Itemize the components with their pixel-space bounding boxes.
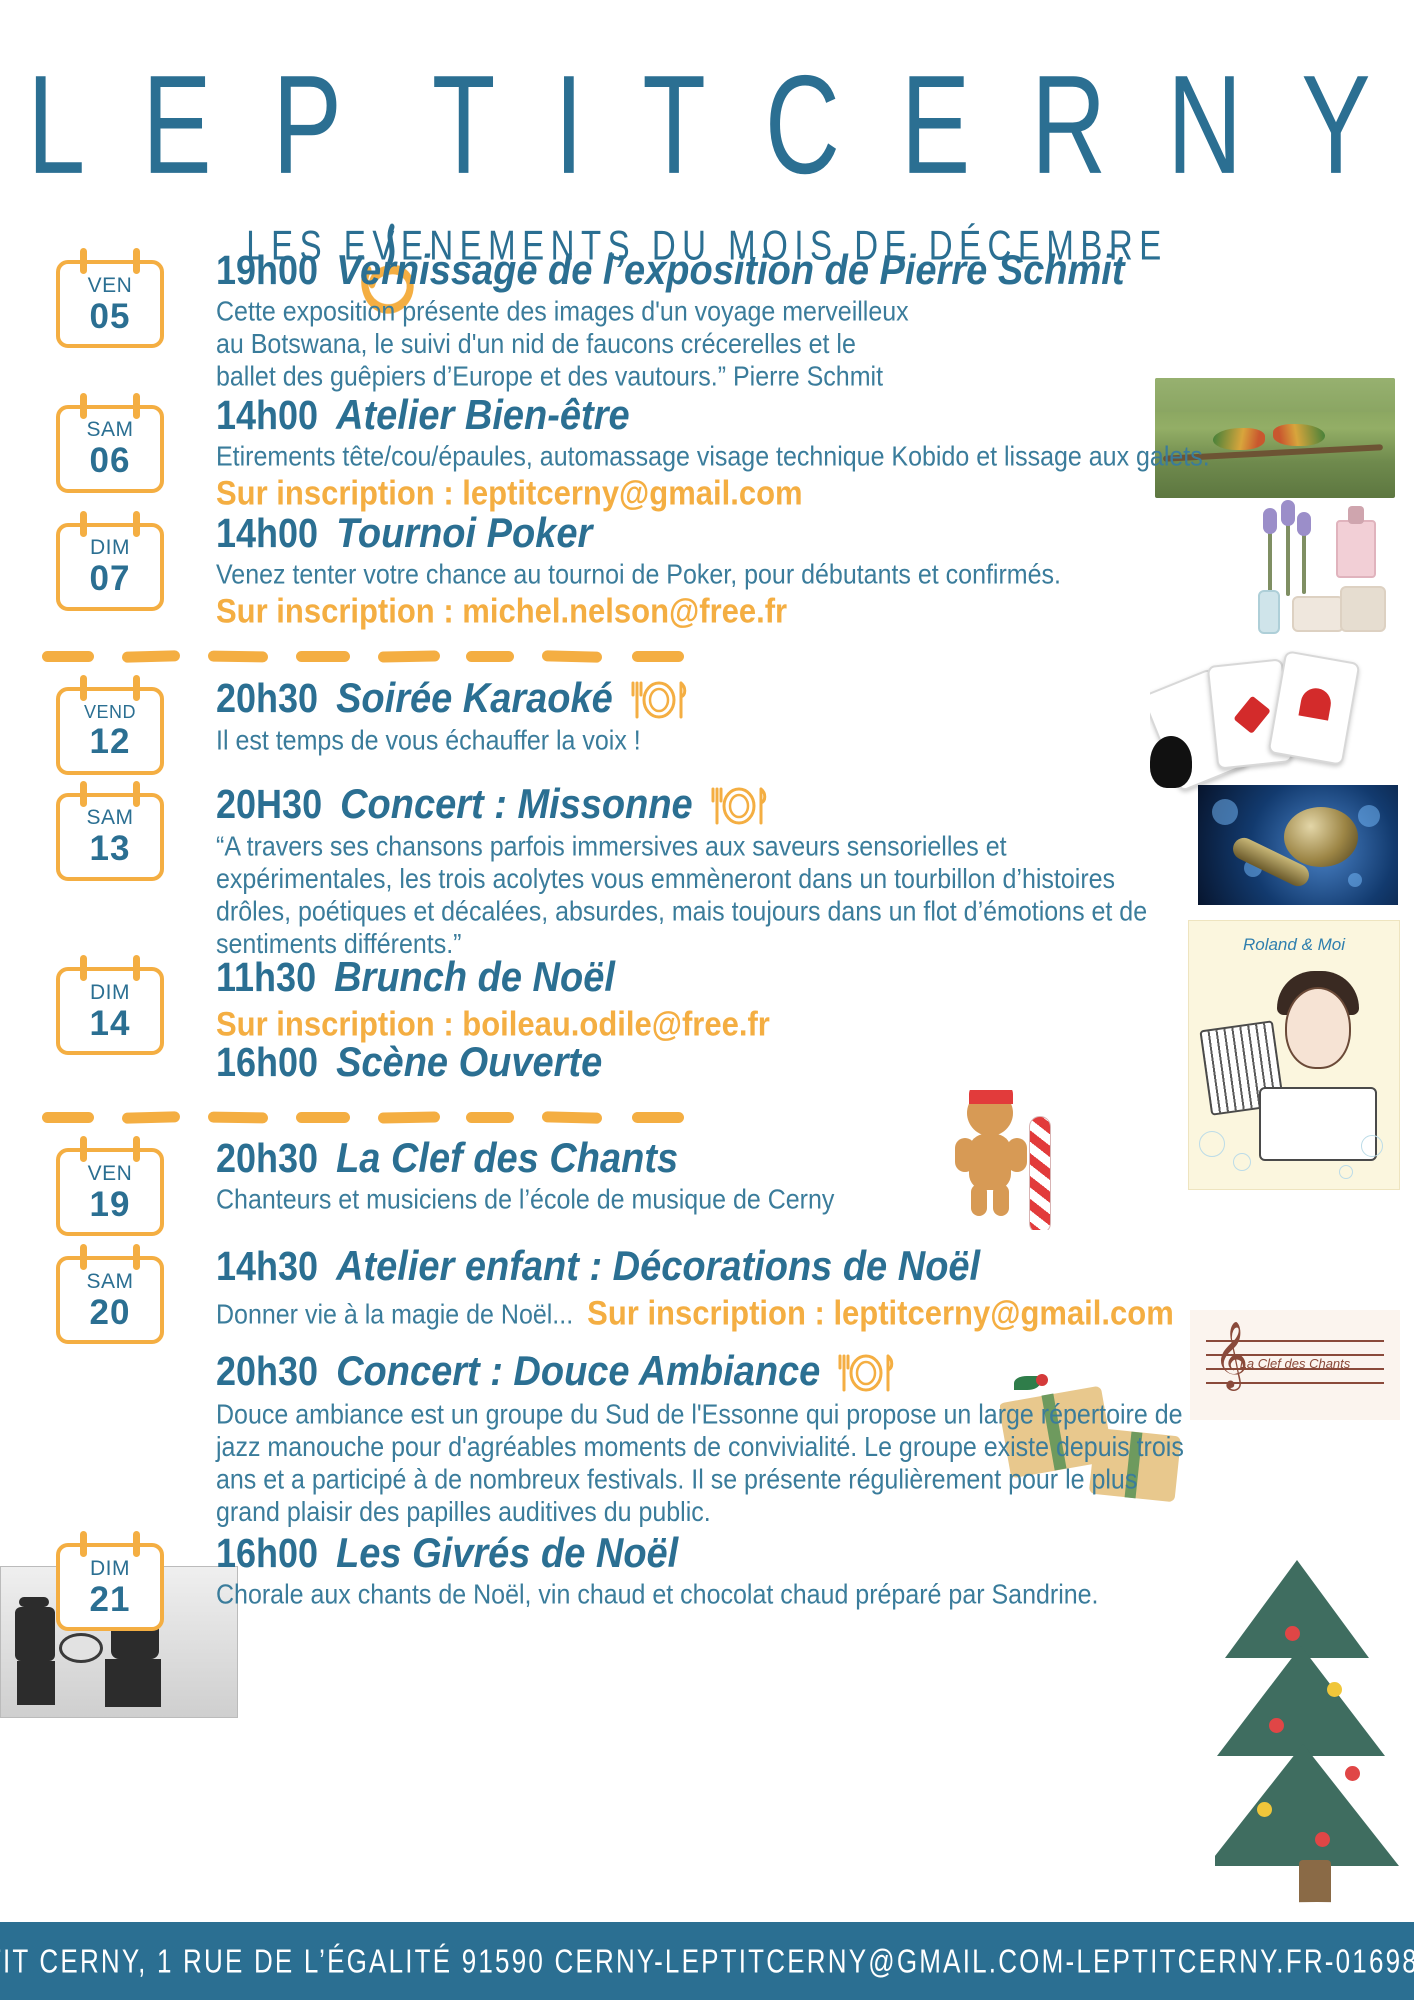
event-title-line: 11h30Brunch de Noël (216, 961, 1404, 1001)
event-row: VEN 05 19h00Vernissage de l’exposition d… (0, 254, 1414, 383)
calendar-day: 12 (90, 724, 131, 759)
event-time: 20h30 (216, 1351, 318, 1393)
event-row: DIM 14 11h30Brunch de Noël Sur inscripti… (0, 961, 1414, 1086)
event-name: Les Givrés de Noël (336, 1533, 678, 1577)
brand-title-part2: T I T C E R N Y (432, 46, 1387, 207)
event-time-secondary: 16h00 (216, 1042, 318, 1084)
event-title-line: 14h00Tournoi Poker (216, 517, 1404, 557)
event-signup[interactable]: Sur inscription : michel.nelson@free.fr (216, 591, 1404, 631)
event-row: VEND 12 20h30Soirée Karaoké Il est (0, 681, 1414, 775)
event-time: 14h00 (216, 394, 318, 436)
calendar-dow: SAM (86, 1271, 133, 1292)
event-title-line: 19h00Vernissage de l’exposition de Pierr… (216, 254, 1404, 294)
footer-contact-text: LE P’TIT CERNY, 1 RUE DE L’ÉGALITÉ 91590… (0, 1941, 1414, 1981)
calendar-day: 13 (90, 831, 131, 866)
calendar-day: 06 (90, 443, 131, 478)
events-list: VEN 05 19h00Vernissage de l’exposition d… (0, 300, 1414, 1631)
calendar-badge: VEN 05 (56, 260, 164, 348)
calendar-badge: VEND 12 (56, 687, 164, 775)
event-name: Atelier enfant : Décorations de Noël (336, 1246, 980, 1290)
event-name: La Clef des Chants (336, 1138, 678, 1182)
event-row: VEN 19 20h30La Clef des Chants Chanteurs… (0, 1142, 1414, 1236)
event-time: 11h30 (216, 957, 316, 999)
event-description: Douce ambiance est un groupe du Sud de l… (216, 1399, 1186, 1529)
event-description: Etirements tête/cou/épaules, automassage… (216, 441, 1226, 473)
event-description: Il est temps de vous échauffer la voix ! (216, 725, 1404, 757)
section-divider (22, 651, 1414, 661)
event-row: DIM 21 16h00Les Givrés de Noël Chorale a… (0, 1537, 1414, 1631)
event-name: Concert : Missonne (340, 784, 693, 828)
calendar-day: 20 (90, 1295, 131, 1330)
calendar-day: 21 (90, 1582, 131, 1617)
event-time: 20h30 (216, 1138, 318, 1180)
event-description: Cette exposition présente des images d'u… (216, 296, 916, 393)
event-name: Soirée Karaoké (336, 678, 613, 722)
meal-plate-icon (627, 681, 691, 724)
brand-title: L E P T I T C E R N Y (0, 46, 1414, 207)
calendar-badge: SAM 13 (56, 793, 164, 881)
calendar-badge: DIM 07 (56, 523, 164, 611)
meal-plate-icon (707, 787, 771, 830)
calendar-badge: SAM 20 (56, 1256, 164, 1344)
event-name: Brunch de Noël (334, 957, 615, 1001)
calendar-badge: DIM 21 (56, 1543, 164, 1631)
calendar-dow: VEND (84, 703, 136, 721)
calendar-dow: DIM (90, 537, 130, 558)
calendar-day: 05 (90, 299, 131, 334)
calendar-day: 14 (90, 1006, 131, 1041)
meal-plate-icon (834, 1354, 898, 1397)
event-time: 20H30 (216, 783, 322, 825)
event-name: Vernissage de l’exposition de Pierre Sch… (336, 250, 1124, 294)
footer-bar: LE P’TIT CERNY, 1 RUE DE L’ÉGALITÉ 91590… (0, 1922, 1414, 2000)
brand-title-part1: L E P (27, 46, 358, 207)
event-row: SAM 13 20H30Concert : Missonne “A (0, 787, 1414, 948)
calendar-dow: VEN (88, 1163, 133, 1184)
calendar-badge: SAM 06 (56, 405, 164, 493)
event-title-line: 20h30Soirée Karaoké (216, 681, 1404, 724)
event-title-line: 20h30La Clef des Chants (216, 1142, 1404, 1182)
event-title-line: 14h30Atelier enfant : Décorations de Noë… (216, 1250, 1404, 1290)
event-time: 19h00 (216, 249, 318, 291)
event-row: SAM 06 14h00Atelier Bien-être Etirements… (0, 399, 1414, 509)
calendar-dow: DIM (90, 1558, 130, 1579)
event-description: Chorale aux chants de Noël, vin chaud et… (216, 1579, 1404, 1611)
event-name: Concert : Douce Ambiance (336, 1351, 820, 1395)
section-divider (22, 1112, 1414, 1122)
event-name: Atelier Bien-être (336, 395, 630, 439)
event-row: 20h30Concert : Douce Ambiance Douce ambi… (0, 1354, 1414, 1515)
calendar-dow: DIM (90, 982, 130, 1003)
event-description: Chanteurs et musiciens de l’école de mus… (216, 1184, 1404, 1216)
event-description: “A travers ses chansons parfois immersiv… (216, 831, 1156, 961)
calendar-dow: SAM (86, 419, 133, 440)
calendar-dow: SAM (86, 807, 133, 828)
event-time: 16h00 (216, 1533, 318, 1575)
event-title-line: 16h00Les Givrés de Noël (216, 1537, 1404, 1577)
event-title-line: 20h30Concert : Douce Ambiance (216, 1354, 1404, 1397)
calendar-dow: VEN (88, 275, 133, 296)
event-time: 20h30 (216, 677, 318, 719)
event-description: Donner vie à la magie de Noël... (216, 1299, 573, 1331)
event-name: Tournoi Poker (336, 513, 592, 557)
event-description: Venez tenter votre chance au tournoi de … (216, 559, 1206, 591)
calendar-badge: VEN 19 (56, 1148, 164, 1236)
event-time: 14h30 (216, 1246, 318, 1288)
event-signup[interactable]: Sur inscription : leptitcerny@gmail.com (587, 1293, 1174, 1333)
event-signup[interactable]: Sur inscription : leptitcerny@gmail.com (216, 473, 1404, 513)
calendar-badge: DIM 14 (56, 967, 164, 1055)
event-title-line: 20H30Concert : Missonne (216, 787, 1404, 830)
poster-page: L E P T I T C E R N Y LES EVENEMENTS DU … (0, 0, 1414, 2000)
event-title-line-secondary: 16h00Scène Ouverte (216, 1046, 1404, 1086)
event-time: 14h00 (216, 512, 318, 554)
event-row: SAM 20 14h30Atelier enfant : Décorations… (0, 1250, 1414, 1344)
event-row: DIM 07 14h00Tournoi Poker Venez tenter v… (0, 517, 1414, 627)
event-title-line: 14h00Atelier Bien-être (216, 399, 1404, 439)
calendar-day: 19 (90, 1187, 131, 1222)
event-signup[interactable]: Sur inscription : boileau.odile@free.fr (216, 1004, 1404, 1044)
event-name-secondary: Scène Ouverte (336, 1042, 602, 1086)
calendar-day: 07 (90, 561, 131, 596)
